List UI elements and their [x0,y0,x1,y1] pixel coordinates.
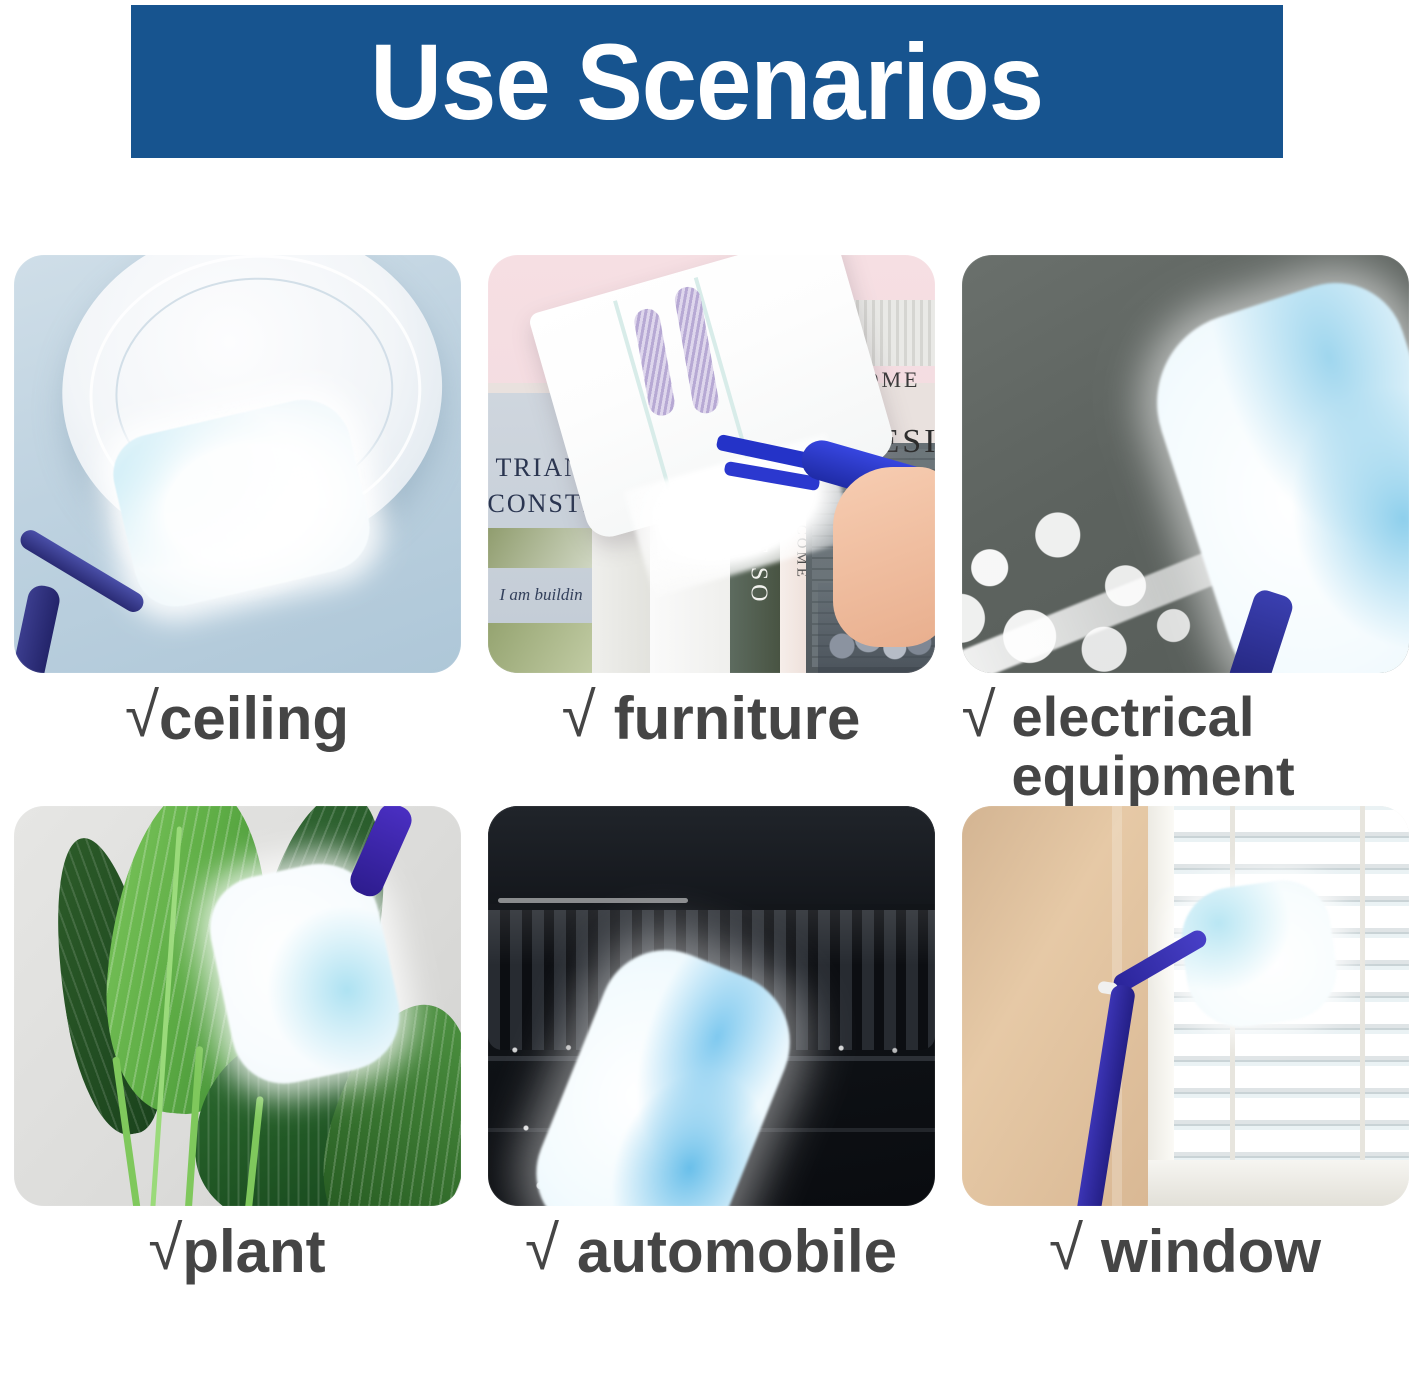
scenario-cell-furniture: TRIAN CONSTR I am buildin THE KINFOLK CE… [474,255,948,806]
caption-automobile: √ automobile [488,1220,935,1284]
caption-plant: √ plant [14,1220,461,1284]
check-icon: √ [525,1218,559,1280]
window-sill [1148,1160,1409,1206]
check-icon: √ [148,1218,182,1280]
book-cover-art [488,528,592,568]
caption-label: automobile [577,1220,897,1284]
caption-electrical-equipment: √ electrical equipment [962,687,1409,806]
use-scenarios-infographic: Use Scenarios √ ceiling [0,0,1422,1387]
scenario-row-2: √ plant √ aut [0,806,1422,1284]
photo-plant [14,806,461,1206]
window-jamb [1148,806,1174,1160]
scenario-cell-ceiling: √ ceiling [0,255,474,806]
check-icon: √ [1049,1218,1083,1280]
caption-label: furniture [614,687,861,751]
caption-ceiling: √ ceiling [14,687,461,751]
hand [833,467,935,647]
photo-ceiling [14,255,461,673]
check-icon: √ [125,685,159,747]
caption-label: window [1101,1220,1321,1284]
caption-label: plant [182,1220,325,1284]
page-title: Use Scenarios [371,28,1044,136]
scenario-cell-plant: √ plant [0,806,474,1284]
check-icon: √ [962,685,996,747]
photo-electrical-equipment [962,255,1409,673]
sheet-fiber [672,285,720,416]
duster-grip [14,583,62,673]
dashboard-surface [488,806,935,904]
book-subtitle: I am buildin [500,585,583,605]
caption-furniture: √ furniture [488,687,935,751]
duster-head [105,390,378,615]
blind-cord [1360,806,1365,1160]
photo-window [962,806,1409,1206]
scenario-cell-electrical-equipment: √ electrical equipment [948,255,1422,806]
book-cover-art-2 [488,623,592,673]
scenario-cell-window: √ window [948,806,1422,1284]
caption-window: √ window [962,1220,1409,1284]
caption-label: ceiling [159,687,349,751]
scenario-cell-automobile: √ automobile [474,806,948,1284]
photo-furniture: TRIAN CONSTR I am buildin THE KINFOLK CE… [488,255,935,673]
scenario-grid: √ ceiling TRIAN CONSTR I am buildin [0,255,1422,1283]
photo-automobile [488,806,935,1206]
caption-label: electrical equipment [1012,687,1409,806]
sheet-fiber [632,307,676,418]
highlight-line [498,898,688,903]
scenario-row-1: √ ceiling TRIAN CONSTR I am buildin [0,255,1422,806]
check-icon: √ [562,685,596,747]
header-banner: Use Scenarios [131,5,1283,158]
